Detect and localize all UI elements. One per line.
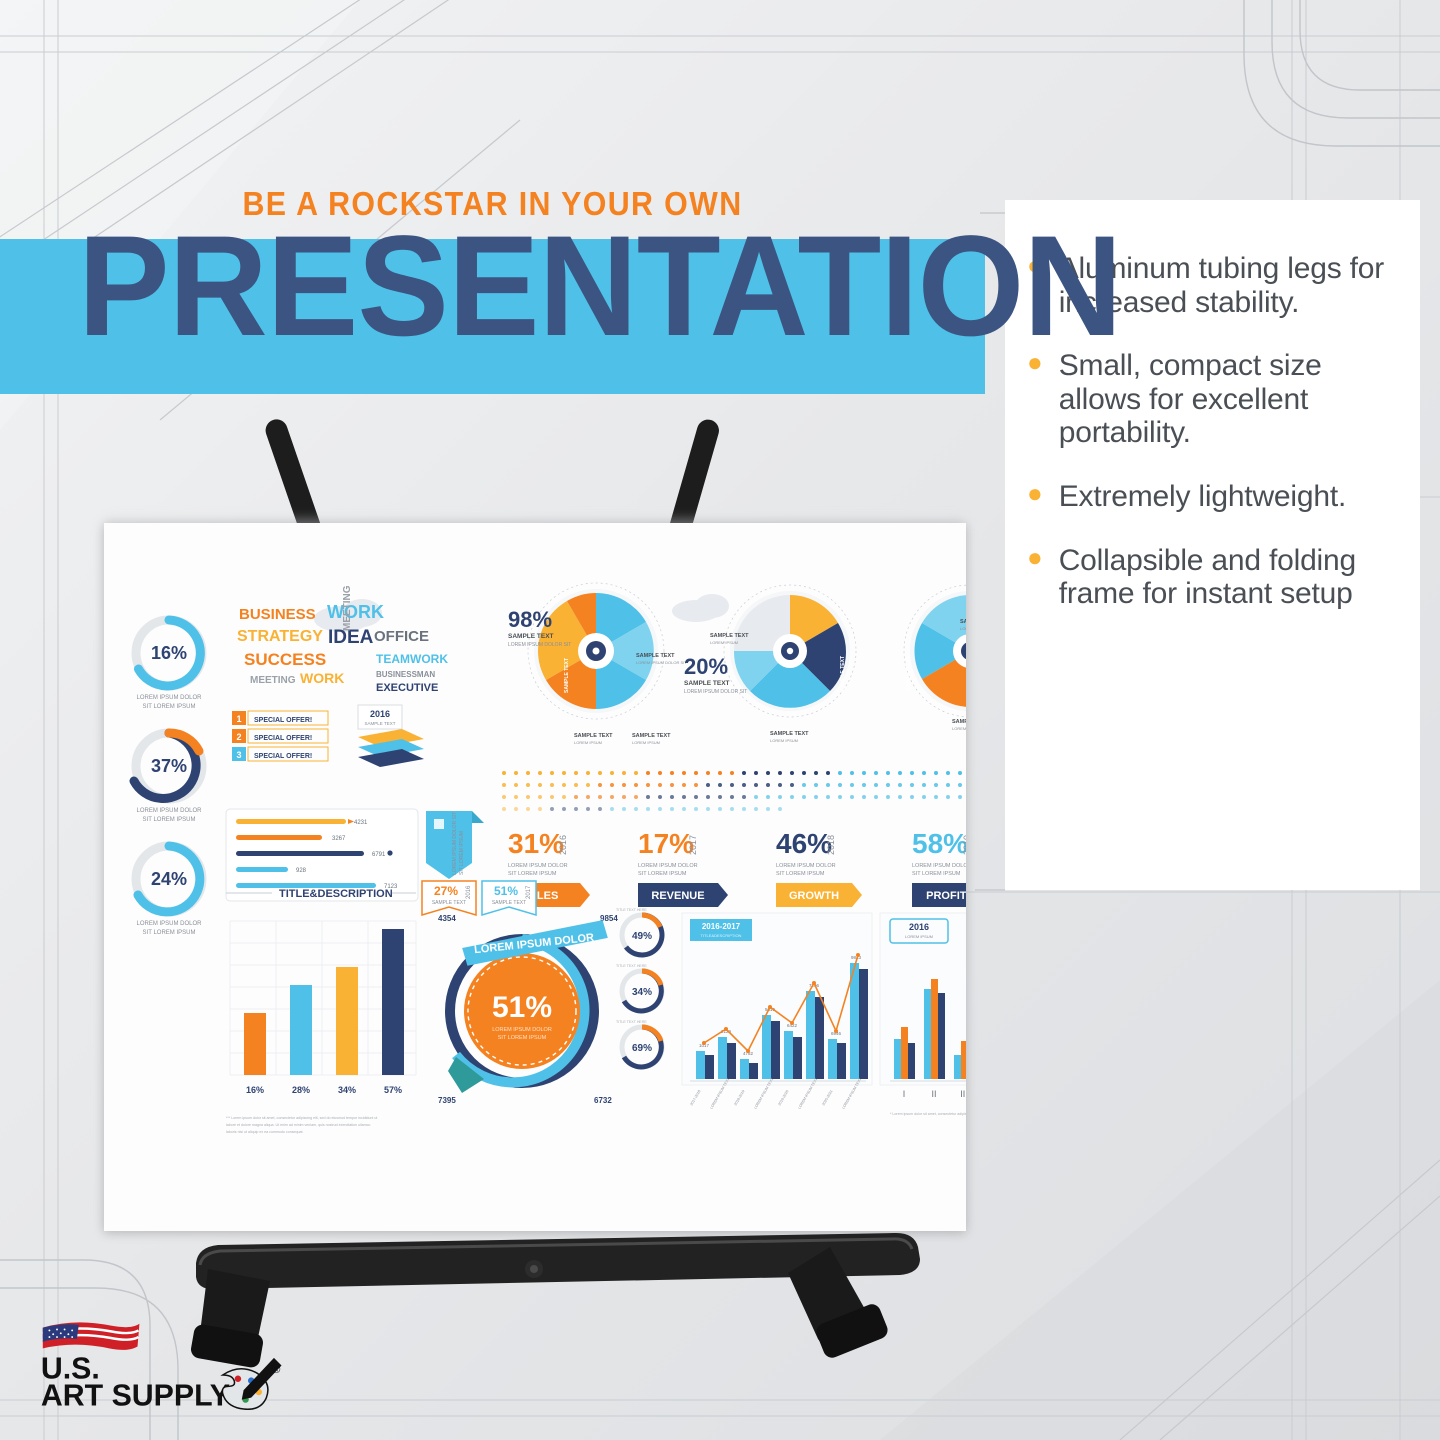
svg-text:SAMPLE TEXT: SAMPLE TEXT xyxy=(960,619,966,625)
svg-text:LOREM IPSUM DOLOR SIT: LOREM IPSUM DOLOR SIT xyxy=(684,689,747,695)
svg-text:2016: 2016 xyxy=(558,835,568,855)
svg-text:SIT LOREM IPSUM: SIT LOREM IPSUM xyxy=(459,831,465,875)
svg-text:SIT LOREM IPSUM: SIT LOREM IPSUM xyxy=(143,817,196,823)
svg-text:16%: 16% xyxy=(151,643,187,663)
poster-trend-chart: 2016-2017 TITLE&DESCRIPTION 1017 2129 47… xyxy=(682,913,872,1110)
svg-text:LOREM IPSUM DOLOR SIT: LOREM IPSUM DOLOR SIT xyxy=(452,812,458,875)
svg-text:SPECIAL OFFER!: SPECIAL OFFER! xyxy=(254,735,312,742)
svg-text:REVENUE: REVENUE xyxy=(651,890,704,902)
svg-text:2016: 2016 xyxy=(370,709,390,719)
svg-text:LOREM IPSUM DOLOR: LOREM IPSUM DOLOR xyxy=(508,863,568,869)
svg-text:LOREM IPSUM: LOREM IPSUM xyxy=(770,738,798,743)
svg-text:928: 928 xyxy=(296,868,307,874)
svg-text:TITLE TEXT HERE: TITLE TEXT HERE xyxy=(616,964,647,968)
headline-band: PRESENTATION xyxy=(0,239,985,394)
svg-text:SAMPLE TEXT: SAMPLE TEXT xyxy=(952,719,966,725)
svg-text:SAMPLE TEXT: SAMPLE TEXT xyxy=(492,900,526,906)
poster-kpi-profits: 58% 2019 LOREM IPSUM DOLOR SIT LOREM IPS… xyxy=(912,828,966,907)
svg-text:4231: 4231 xyxy=(354,820,368,826)
svg-text:98%: 98% xyxy=(508,607,552,632)
bullet-icon: ● xyxy=(1027,480,1043,514)
svg-text:MEETING: MEETING xyxy=(250,675,296,686)
svg-text:WORK: WORK xyxy=(300,670,344,686)
bullet-icon: ● xyxy=(1027,544,1043,611)
svg-text:SAMPLE TEXT: SAMPLE TEXT xyxy=(906,656,912,691)
svg-text:2017: 2017 xyxy=(688,835,698,855)
svg-text:SIT LOREM IPSUM: SIT LOREM IPSUM xyxy=(143,930,196,936)
svg-text:III: III xyxy=(960,1089,966,1099)
svg-text:2016-2017: 2016-2017 xyxy=(702,922,741,931)
svg-text:2017: 2017 xyxy=(526,885,532,899)
svg-text:2019: 2019 xyxy=(962,835,966,855)
svg-text:SIT LOREM IPSUM: SIT LOREM IPSUM xyxy=(143,704,196,710)
svg-text:LOREM IPSUM DOLOR SIT: LOREM IPSUM DOLOR SIT xyxy=(636,660,687,665)
svg-text:II: II xyxy=(931,1089,936,1099)
svg-text:3: 3 xyxy=(236,750,241,760)
svg-text:28%: 28% xyxy=(292,1085,310,1095)
svg-text:LOREM IPSUM: LOREM IPSUM xyxy=(952,726,966,731)
page-title: PRESENTATION xyxy=(78,215,1122,358)
svg-text:WORK: WORK xyxy=(327,602,384,622)
svg-text:2016: 2016 xyxy=(466,885,472,899)
feature-text: Collapsible and folding frame for instan… xyxy=(1059,544,1394,611)
feature-item-3: ● Collapsible and folding frame for inst… xyxy=(1027,544,1394,611)
svg-text:LOREM IPSUM DOLOR: LOREM IPSUM DOLOR xyxy=(492,1027,552,1033)
svg-text:TEAMWORK: TEAMWORK xyxy=(376,652,448,666)
svg-text:SUCCESS: SUCCESS xyxy=(244,650,326,669)
svg-text:TITLE TEXT HERE: TITLE TEXT HERE xyxy=(616,1020,647,1024)
svg-text:2: 2 xyxy=(236,732,241,742)
svg-text:TITLE&DESCRIPTION: TITLE&DESCRIPTION xyxy=(279,888,393,900)
svg-text:SAMPLE TEXT: SAMPLE TEXT xyxy=(636,653,675,659)
presentation-board: 16% LOREM IPSUM DOLOR SIT LOREM IPSUM 37… xyxy=(104,523,966,1231)
svg-text:6791: 6791 xyxy=(372,852,386,858)
feature-item-2: ● Extremely lightweight. xyxy=(1027,480,1394,514)
svg-text:LOREM IPSUM DOLOR: LOREM IPSUM DOLOR xyxy=(136,808,202,814)
svg-text:LOREM IPSUM DOLOR: LOREM IPSUM DOLOR xyxy=(136,921,202,927)
svg-text:SAMPLE TEXT: SAMPLE TEXT xyxy=(508,633,554,640)
svg-text:20%: 20% xyxy=(684,654,728,679)
svg-text:3267: 3267 xyxy=(332,836,346,842)
infographic-poster: 16% LOREM IPSUM DOLOR SIT LOREM IPSUM 37… xyxy=(104,523,966,1231)
svg-text:BUSINESSMAN: BUSINESSMAN xyxy=(376,670,435,679)
svg-text:SIT LOREM IPSUM: SIT LOREM IPSUM xyxy=(638,871,687,877)
svg-text:51%: 51% xyxy=(492,991,552,1024)
svg-text:2016: 2016 xyxy=(909,922,929,932)
svg-text:TITLE TEXT HERE: TITLE TEXT HERE xyxy=(616,908,647,912)
svg-text:SIT LOREM IPSUM: SIT LOREM IPSUM xyxy=(912,871,961,877)
svg-text:46%: 46% xyxy=(776,828,832,859)
svg-text:37%: 37% xyxy=(151,756,187,776)
svg-text:SAMPLE TEXT: SAMPLE TEXT xyxy=(770,731,809,737)
svg-text:LOREM IPSUM: LOREM IPSUM xyxy=(960,626,966,631)
svg-text:58%: 58% xyxy=(912,828,966,859)
svg-text:31%: 31% xyxy=(508,828,564,859)
svg-text:*** Lorem ipsum dolor sit amet: *** Lorem ipsum dolor sit amet, consecte… xyxy=(226,1116,377,1120)
svg-text:27%: 27% xyxy=(434,884,458,898)
svg-text:34%: 34% xyxy=(338,1085,356,1095)
svg-text:4354: 4354 xyxy=(438,914,456,923)
svg-text:SAMPLE TEXT: SAMPLE TEXT xyxy=(432,900,466,906)
svg-text:TITLE&DESCRIPTION: TITLE&DESCRIPTION xyxy=(701,933,742,938)
svg-text:SAMPLE TEXT: SAMPLE TEXT xyxy=(632,733,671,739)
svg-text:BUSINESS: BUSINESS xyxy=(239,606,316,623)
svg-text:SAMPLE TEXT: SAMPLE TEXT xyxy=(365,721,396,726)
svg-text:17%: 17% xyxy=(638,828,694,859)
svg-text:SAMPLE TEXT: SAMPLE TEXT xyxy=(710,633,749,639)
svg-text:SAMPLE TEXT: SAMPLE TEXT xyxy=(564,658,570,693)
svg-text:34%: 34% xyxy=(632,987,652,998)
svg-text:LOREM IPSUM DOLOR: LOREM IPSUM DOLOR xyxy=(136,695,202,701)
svg-text:16%: 16% xyxy=(246,1085,264,1095)
svg-text:SAMPLE TEXT: SAMPLE TEXT xyxy=(684,680,730,687)
svg-text:LOREM IPSUM DOLOR SIT: LOREM IPSUM DOLOR SIT xyxy=(508,642,571,648)
svg-text:GROWTH: GROWTH xyxy=(789,890,839,902)
svg-text:2018: 2018 xyxy=(826,835,836,855)
svg-text:STRATEGY: STRATEGY xyxy=(237,628,323,645)
svg-text:SPECIAL OFFER!: SPECIAL OFFER! xyxy=(254,753,312,760)
us-flag-icon xyxy=(43,1322,140,1350)
svg-text:69%: 69% xyxy=(632,1043,652,1054)
svg-text:labore et dolore magna aliqua.: labore et dolore magna aliqua. Ut enim a… xyxy=(226,1123,370,1127)
feature-text: Extremely lightweight. xyxy=(1059,480,1346,514)
svg-text:49%: 49% xyxy=(632,931,652,942)
svg-text:laboris nisi ut aliquip ex ea: laboris nisi ut aliquip ex ea commodo co… xyxy=(226,1130,304,1134)
svg-text:MEETING: MEETING xyxy=(342,585,353,631)
svg-text:LOREM IPSUM DOLOR: LOREM IPSUM DOLOR xyxy=(638,863,698,869)
brand-line-2: ART SUPPLY xyxy=(41,1379,230,1410)
svg-text:PROFITS: PROFITS xyxy=(926,890,966,902)
svg-text:LOREM IPSUM: LOREM IPSUM xyxy=(710,640,738,645)
svg-text:LOREM IPSUM DOLOR: LOREM IPSUM DOLOR xyxy=(776,863,836,869)
svg-text:SAMPLE TEXT: SAMPLE TEXT xyxy=(574,733,613,739)
svg-text:OFFICE: OFFICE xyxy=(374,628,429,645)
svg-text:SIT LOREM IPSUM: SIT LOREM IPSUM xyxy=(508,871,557,877)
svg-text:7395: 7395 xyxy=(438,1096,456,1105)
svg-text:LOREM IPSUM: LOREM IPSUM xyxy=(574,740,602,745)
svg-text:* Lorem ipsum dolor sit amet,: * Lorem ipsum dolor sit amet, consectetu… xyxy=(890,1112,966,1116)
svg-text:LOREM IPSUM: LOREM IPSUM xyxy=(905,934,933,939)
svg-text:SIT LOREM IPSUM: SIT LOREM IPSUM xyxy=(776,871,825,877)
svg-text:SIT LOREM IPSUM: SIT LOREM IPSUM xyxy=(498,1035,547,1041)
svg-text:51%: 51% xyxy=(494,884,518,898)
registered-mark: ® xyxy=(272,1364,281,1376)
svg-text:1: 1 xyxy=(236,714,241,724)
svg-text:LOREM IPSUM: LOREM IPSUM xyxy=(632,740,660,745)
svg-text:EXECUTIVE: EXECUTIVE xyxy=(376,682,438,694)
svg-text:57%: 57% xyxy=(384,1085,402,1095)
svg-text:SPECIAL OFFER!: SPECIAL OFFER! xyxy=(254,717,312,724)
brand-logo: U.S. ART SUPPLY ® xyxy=(30,1320,300,1410)
headline-block: BE A ROCKSTAR IN YOUR OWN PRESENTATION xyxy=(0,185,985,394)
svg-text:I: I xyxy=(903,1089,906,1099)
svg-text:24%: 24% xyxy=(151,869,187,889)
svg-text:SAMPLE TEXT: SAMPLE TEXT xyxy=(840,656,846,691)
svg-text:6732: 6732 xyxy=(594,1096,612,1105)
svg-text:LOREM IPSUM DOLOR: LOREM IPSUM DOLOR xyxy=(912,863,966,869)
